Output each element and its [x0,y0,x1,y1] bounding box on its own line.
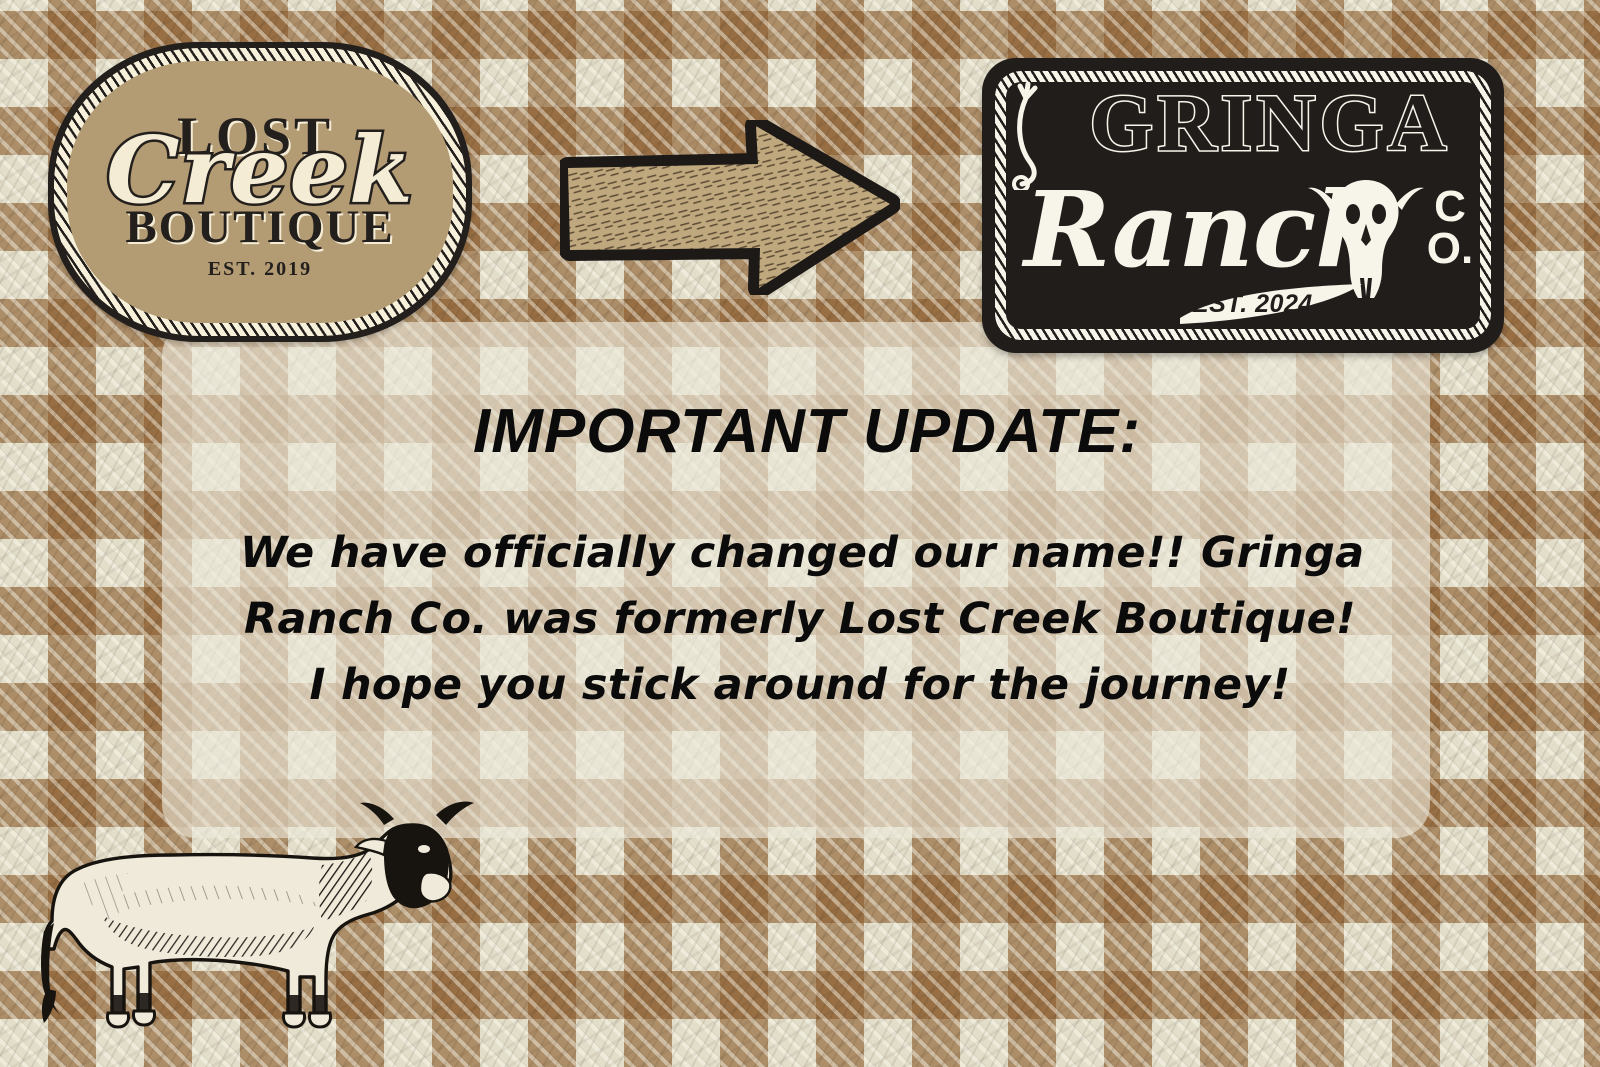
logo-right-suffix-line-1: C [1422,186,1478,228]
body-line: I hope you stick around for the journey! [240,652,1360,718]
lost-creek-boutique-logo: LOST Creek BOUTIQUE EST. 2019 [48,42,472,342]
body-line: Ranch Co. was formerly Lost Creek Boutiq… [240,586,1360,652]
transition-arrow-icon [560,120,900,295]
logo-left-established: EST. 2019 [208,258,312,281]
cow-illustration [22,745,492,1045]
logo-right-top-word: GRINGA [982,82,1504,164]
logo-right-company-suffix: C O. [1422,186,1478,270]
announcement-graphic: LOST Creek BOUTIQUE EST. 2019 [0,0,1600,1067]
page-title: IMPORTANT UPDATE: [0,396,1600,467]
cow-skull-icon [1306,166,1426,306]
logo-right-suffix-line-2: O. [1422,228,1478,270]
logo-left-script-word: Creek [106,129,414,212]
gringa-ranch-co-logo: GRINGA Ranch EST. 2024 [982,58,1504,353]
body-line: We have officially changed our name!! Gr… [240,520,1360,586]
logo-right-established: EST. 2024 [1192,290,1313,319]
announcement-body: We have officially changed our name!! Gr… [240,520,1360,718]
